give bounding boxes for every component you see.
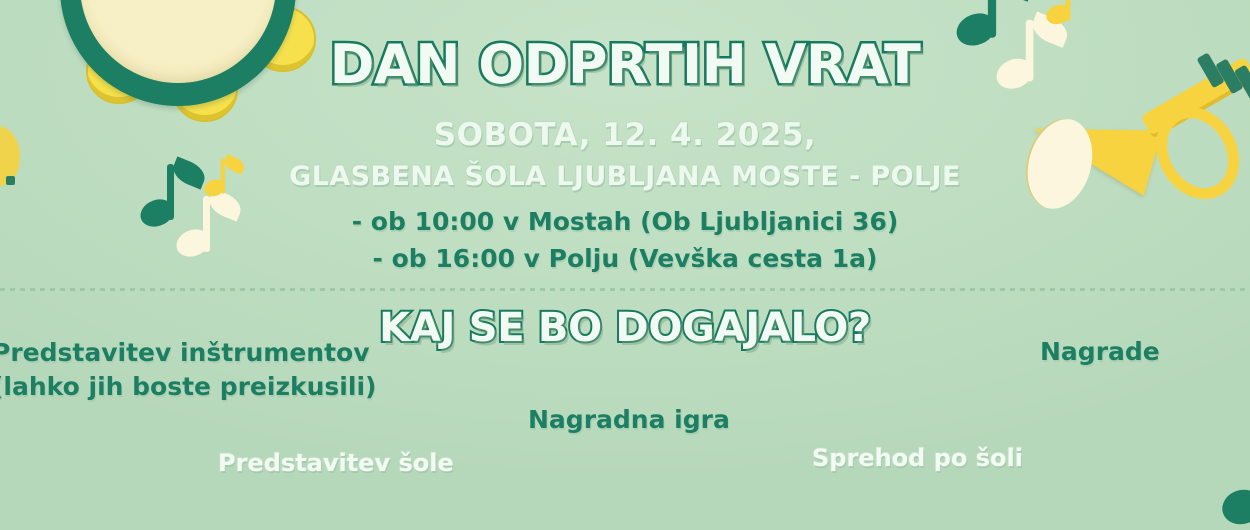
event-date: SOBOTA, 12. 4. 2025,: [0, 117, 1250, 153]
tambourine-jingle-icon: [68, 0, 134, 22]
activity-instruments-line-2: (lahko jih boste preizkusili): [0, 370, 376, 404]
activity-predstavitev-sole: Predstavitev šole: [218, 449, 454, 477]
event-time-location-2: - ob 16:00 v Polju (Vevška cesta 1a): [0, 244, 1250, 273]
activity-instruments: Predstavitev inštrumentov (lahko jih bos…: [0, 336, 376, 404]
event-poster: DAN ODPRTIH VRAT SOBOTA, 12. 4. 2025, GL…: [0, 0, 1250, 530]
activity-sprehod-po-soli: Sprehod po šoli: [812, 444, 1023, 472]
activity-instruments-line-1: Predstavitev inštrumentov: [0, 336, 376, 370]
page-title: DAN ODPRTIH VRAT: [0, 33, 1250, 96]
section-divider: [0, 288, 1250, 291]
trumpet-loop: [1140, 92, 1250, 214]
event-time-location-1: - ob 10:00 v Mostah (Ob Ljubljanici 36): [0, 207, 1250, 236]
school-name: GLASBENA ŠOLA LJUBLJANA MOSTE - POLJE: [0, 161, 1250, 192]
activity-nagradna-igra: Nagradna igra: [528, 405, 730, 434]
activity-nagrade: Nagrade: [1040, 337, 1160, 366]
clipped-note-head-icon: [1218, 485, 1250, 530]
